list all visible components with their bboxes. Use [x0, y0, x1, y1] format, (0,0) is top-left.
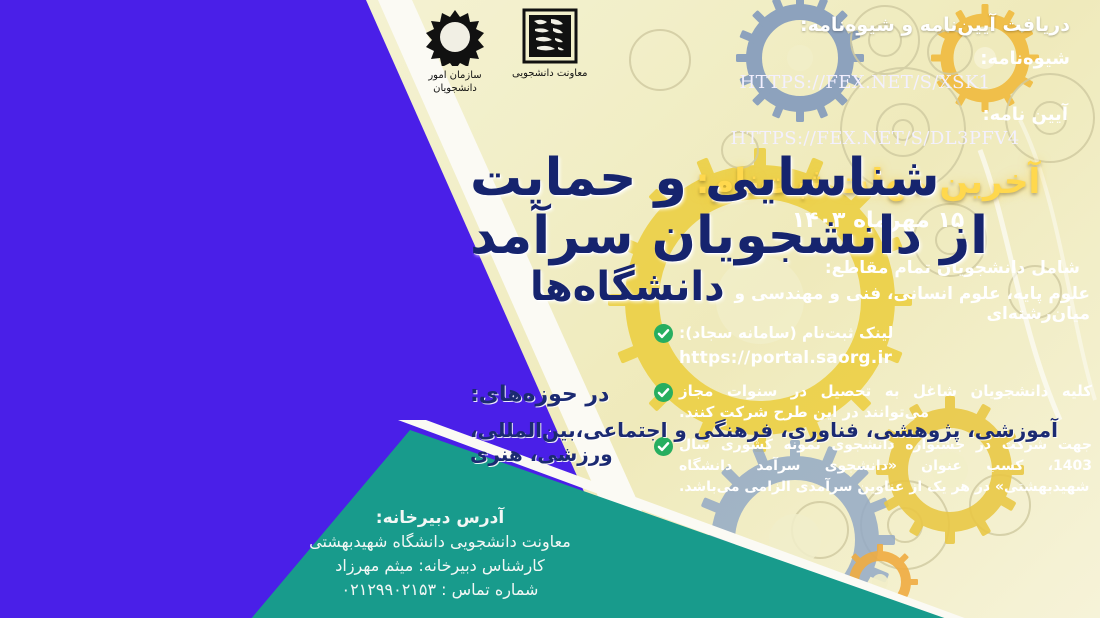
- title-line-1: شناسایی و حمایت: [470, 150, 1090, 206]
- bullet-list: لینک ثبت‌نام (سامانه سجاد): https://port…: [654, 322, 1092, 509]
- logo-caption: سازمان امور دانشجویان: [428, 70, 481, 95]
- title-line-3: دانشگاه‌ها: [470, 266, 1090, 309]
- secretariat-contact-person: کارشناس دبیرخانه: میثم مهرزاد: [0, 556, 880, 575]
- secretariat-heading: آدرس دبیرخانه:: [0, 508, 880, 528]
- registration-link-label: لینک ثبت‌نام (سامانه سجاد):: [679, 324, 893, 342]
- check-circle-icon: [654, 324, 673, 347]
- sunburst-emblem-icon: [424, 8, 486, 66]
- title-line-2: از دانشجویان سرآمد: [470, 208, 1090, 264]
- registration-url[interactable]: https://portal.saorg.ir: [679, 346, 893, 370]
- poster: دریافت آیین‌نامه و شیوه‌نامه: شیوه‌نامه:…: [0, 0, 1100, 618]
- logo-caption: معاونت دانشجویی: [512, 68, 588, 81]
- download-heading: دریافت آیین‌نامه و شیوه‌نامه:: [650, 14, 1070, 36]
- university-emblem-icon: [522, 8, 578, 64]
- student-affairs-organization-logo: سازمان امور دانشجویان: [424, 8, 486, 95]
- logo-group: معاونت دانشجویی سازمان امور دانشجویان: [424, 8, 588, 95]
- guideline-label: شیوه‌نامه:: [650, 48, 1070, 69]
- secretariat-phone: شماره تماس : ۰۲۱۲۹۹۰۲۱۵۳: [0, 580, 880, 599]
- shahid-beheshti-university-logo: معاونت دانشجویی: [512, 8, 588, 81]
- secretariat-line-1: معاونت دانشجویی دانشگاه شهیدبهشتی: [0, 532, 880, 551]
- regulation-url[interactable]: HTTPS://FEX.NET/S/DL3PFV4: [660, 128, 1090, 149]
- list-item: لینک ثبت‌نام (سامانه سجاد): https://port…: [654, 322, 1092, 370]
- page-title: شناسایی و حمایت از دانشجویان سرآمد دانشگ…: [470, 150, 1090, 310]
- regulation-label: آیین نامه:: [648, 104, 1068, 125]
- areas-list: آموزشی، پژوهشی، فناوری، فرهنگی و اجتماعی…: [470, 418, 1085, 466]
- guideline-url[interactable]: HTTPS://FEX.NET/S/XSK1: [650, 72, 1080, 93]
- list-item-text: لینک ثبت‌نام (سامانه سجاد): https://port…: [679, 322, 893, 370]
- areas-label: در حوزه‌های:: [470, 382, 1080, 407]
